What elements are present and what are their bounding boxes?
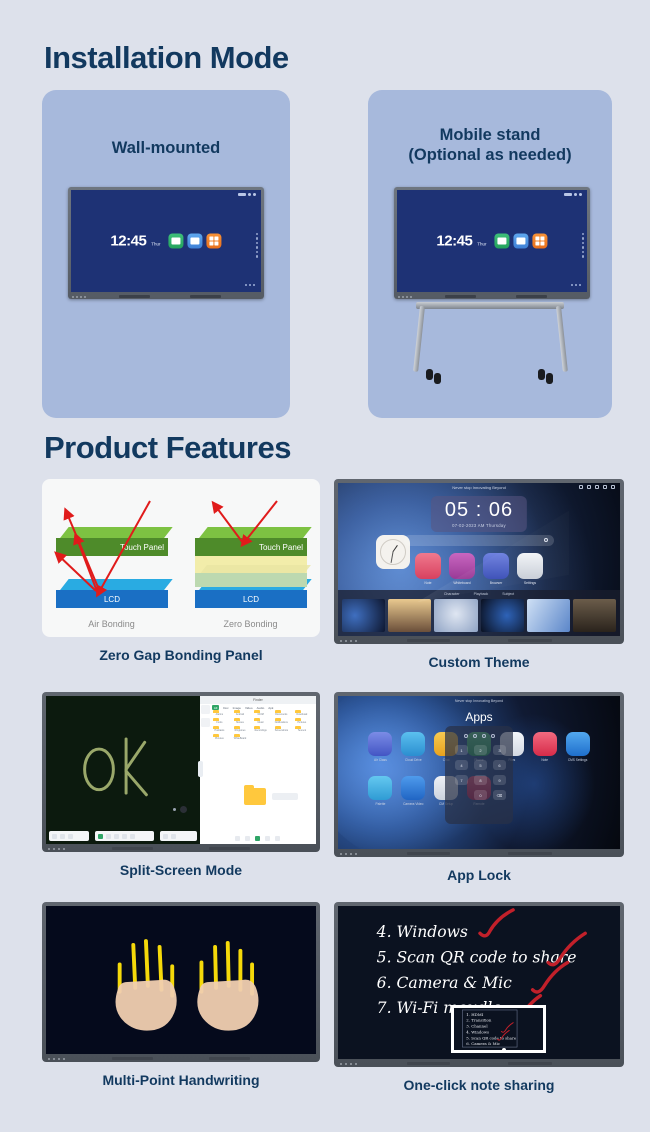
page-title-installation: Installation Mode [44,40,289,76]
theme-top-bar-title: Never stop Innovating Beyond [338,485,620,490]
list-item[interactable]: Alarms [213,712,226,716]
install-card-stand-label: Mobile stand (Optional as needed) [368,125,612,165]
display-mock-app-lock: Never stop Innovating Beyond Apps Air Cl… [334,692,624,857]
sidebar-item-local [201,705,210,714]
file-manager-toolbar[interactable]: All Doc Image Video Audio Apk [212,705,274,710]
all-apps-icon[interactable] [207,234,222,249]
bonding-zero: LCD Touch Panel [181,479,320,637]
key-6[interactable]: 6 [493,760,506,770]
svg-text:3. Channel: 3. Channel [466,1024,488,1029]
speaker-grille-left [407,1062,451,1065]
svg-text:5. Scan QR code to share: 5. Scan QR code to share [466,1035,517,1040]
stand-caster-right [538,368,556,386]
key-5[interactable]: 5 [474,760,487,770]
air-bonding-light-arrows [42,479,181,637]
home-app-row [169,234,222,249]
status-label-icon [564,193,572,196]
list-item[interactable]: Movies [234,720,247,724]
stand-caster-left [426,368,444,386]
filter-chip-5[interactable]: Audio [257,706,265,710]
brand-mark [571,284,581,286]
share-preview-inset[interactable]: 1. HDMI 2. Transition 3. Channel 4. Wind… [451,1005,546,1053]
brand-mark [245,284,255,286]
backspace-icon[interactable]: ⌫ [493,790,506,800]
side-toolbar-icons[interactable] [582,233,585,258]
hand-silhouette-left [116,980,177,1031]
display-mock-handwriting [42,902,320,1062]
home-day: Thur [151,242,160,247]
front-button-row[interactable] [48,1058,65,1060]
list-item[interactable]: Download [295,712,308,716]
filter-chip-6[interactable]: Apk [268,706,273,710]
whiteboard-app-icon[interactable] [169,234,184,249]
list-item[interactable]: Android [234,712,247,716]
side-toolbar-icons[interactable] [256,233,259,258]
svg-text:6. Camera & Mic: 6. Camera & Mic [466,1041,500,1046]
theme-thumbnail-row [338,599,620,632]
gallery-icon [603,485,607,489]
home-clock: 12:45 [110,234,146,249]
wifi-icon [248,193,251,196]
zero-bonding-light-arrows [181,479,320,637]
home-clock: 12:45 [436,234,472,249]
display-mock-custom-theme: Never stop Innovating Beyond 05 : 06 07-… [334,479,624,644]
bell-icon [611,485,615,489]
note-line-3: 6. Camera & Mic [377,974,512,992]
app-tile[interactable]: CMS Settings [566,732,590,762]
split-divider-handle[interactable] [198,761,203,777]
app-tile[interactable]: Camera Video [401,776,425,806]
whiteboard-app-icon[interactable] [495,234,510,249]
filter-chip-2[interactable]: Doc [223,706,228,710]
stand-leg-right [556,306,568,372]
poster-page: Installation Mode Wall-mounted 12:45 Thu… [0,0,650,1132]
home-app-row [495,234,548,249]
feature-caption-handwriting: Multi-Point Handwriting [42,1072,320,1088]
app-tile[interactable]: Note [533,732,557,762]
list-item[interactable]: Ringtones [234,728,247,732]
home-center: 12:45 Thur [110,234,221,249]
file-manager-pane[interactable]: Finder All Doc Image Video Audio Apk [200,696,316,844]
battery-icon [579,193,582,196]
display-mock-stand: 12:45 Thur [394,187,590,299]
front-button-row[interactable] [340,1063,357,1065]
list-item[interactable]: Tencent [295,728,308,732]
front-button-row[interactable] [340,640,357,642]
speaker-grille-right [508,852,552,855]
feature-caption-app-lock: App Lock [334,867,624,883]
bonding-diagram: Touch Panel LCD [42,479,320,637]
folder-name-field [272,793,298,800]
status-label-icon [238,193,246,196]
bonding-air: Touch Panel LCD [42,479,181,637]
key-1[interactable]: 1 [455,745,468,755]
speaker-grille-left [112,1057,154,1060]
list-item[interactable]: Recordings [254,728,267,732]
list-item[interactable]: Pictures [213,736,226,740]
theme-thumbnail[interactable] [434,599,477,632]
install-card-wall-label: Wall-mounted [42,138,290,158]
stand-leg-left [413,306,425,372]
custom-theme-screen: Never stop Innovating Beyond 05 : 06 07-… [338,483,620,636]
key-0[interactable]: 0 [474,790,487,800]
list-item[interactable]: Pictures [295,720,308,724]
status-bar [564,193,582,196]
key-7[interactable]: 7 [455,775,468,785]
list-item[interactable]: Screenshots [275,728,288,732]
install-card-stand-label-line1: Mobile stand [368,125,612,145]
more-icon [579,485,583,489]
feature-zero-gap-bonding: Touch Panel LCD [42,479,320,637]
display-mock-split-screen: Finder All Doc Image Video Audio Apk [42,692,320,852]
app-tile[interactable]: Cloud Drive [401,732,425,762]
whiteboard-handwriting-ok [77,729,162,803]
page-title-apps: Apps [338,710,620,724]
speaker-grille-right [209,847,251,850]
note-line-2: 5. Scan QR code to share [377,949,577,967]
note-sharing-screen[interactable]: 4. Windows 5. Scan QR code to share 6. C… [338,906,620,1059]
mobile-stand-frame [368,296,612,392]
folder-grid: Alarms Android DCIM Documents Download F… [213,712,313,740]
key-4[interactable]: 4 [455,760,468,770]
split-screen-content: Finder All Doc Image Video Audio Apk [46,696,316,844]
key-2[interactable]: 2 [474,745,487,755]
display-mock-wall: 12:45 Thur [68,187,264,299]
file-manager-header: Finder [200,696,316,704]
pin-keypad-overlay[interactable]: 1 2 3 4 5 6 7 8 9 0 ⌫ [445,726,513,824]
speaker-grille-left [407,852,451,855]
list-item[interactable]: Podcasts [213,728,226,732]
all-apps-icon[interactable] [533,234,548,249]
display-screen: 12:45 Thur [397,190,587,292]
page-title-features: Product Features [44,430,291,466]
feature-multi-point-handwriting: Multi-Point Handwriting [42,902,320,1062]
note-icon [415,553,441,579]
display-mock-note-sharing: 4. Windows 5. Scan QR code to share 6. C… [334,902,624,1067]
front-button-row[interactable] [72,296,86,298]
status-bar [238,193,256,196]
zero-bonding-caption: Zero Bonding [181,619,320,629]
app-lock-top-bar-title: Never stop Innovating Beyond [338,699,620,703]
home-center: 12:45 Thur [436,234,547,249]
whiteboard-pane[interactable] [46,696,200,844]
home-day: Thur [477,242,486,247]
keypad-keys[interactable]: 1 2 3 4 5 6 7 8 9 0 ⌫ [455,745,503,800]
key-3[interactable]: 3 [493,745,506,755]
cms-settings-icon [566,732,590,756]
speaker-grille-right [190,295,221,298]
pin-dots [455,734,503,738]
camera-video-icon [401,776,425,800]
app-tile[interactable]: Palette [368,776,392,806]
list-item[interactable]: WhiteBoard [234,736,247,740]
theme-thumbnail[interactable] [388,599,431,632]
svg-text:4. Windows: 4. Windows [466,1029,489,1034]
menu-icon [587,485,591,489]
svg-text:1. HDMI: 1. HDMI [466,1012,483,1017]
list-item[interactable]: Music [254,720,267,724]
tab-subject[interactable]: Subject [502,592,514,596]
folder-icon [244,788,266,805]
filter-chip-4[interactable]: Video [245,706,253,710]
screen-share-app-icon[interactable] [188,234,203,249]
clock-widget[interactable]: 05 : 06 07-02-2023 AM Thursday [431,496,527,532]
filter-chip-3[interactable]: Image [233,706,241,710]
speaker-grille-left [407,639,451,642]
file-manager-bottom-bar[interactable] [200,836,316,841]
theme-thumbnail[interactable] [342,599,385,632]
app-tile[interactable]: Air Class [368,732,392,762]
palette-icon [368,776,392,800]
theme-thumbnail[interactable] [573,599,616,632]
feature-note-sharing: 4. Windows 5. Scan QR code to share 6. C… [334,902,624,1067]
theme-top-bar-icons[interactable] [579,485,615,489]
list-item[interactable]: Documents [275,712,288,716]
file-manager-title: Finder [253,698,263,702]
stand-crossbar [416,302,564,309]
handwriting-strokes [46,906,316,1054]
feature-custom-theme: Never stop Innovating Beyond 05 : 06 07-… [334,479,624,644]
speaker-grille-left [112,847,154,850]
cloud-drive-icon [401,732,425,756]
feature-app-lock: Never stop Innovating Beyond Apps Air Cl… [334,692,624,857]
widget-icon [595,485,599,489]
theme-thumbnail[interactable] [527,599,570,632]
handwriting-screen[interactable] [46,906,316,1054]
clock-widget-date: 07-02-2023 AM Thursday [445,523,513,528]
tab-playback[interactable]: Playback [474,592,489,596]
theme-thumbnail[interactable] [481,599,524,632]
screen-share-app-icon[interactable] [514,234,529,249]
wifi-icon [574,193,577,196]
list-item[interactable]: Fonts [213,720,226,724]
air-class-icon [368,732,392,756]
list-item[interactable]: DCIM [254,712,267,716]
sidebar-item-cloud [201,718,210,727]
feature-split-screen: Finder All Doc Image Video Audio Apk [42,692,320,852]
share-preview-mini-screen: 1. HDMI 2. Transition 3. Channel 4. Wind… [454,1008,543,1050]
speaker-grille-right [508,639,552,642]
front-button-row[interactable] [340,853,357,855]
list-item[interactable]: Notifications [275,720,288,724]
note-line-1: 4. Windows [376,923,468,941]
inset-handle[interactable] [502,1048,506,1052]
key-8[interactable]: 8 [474,775,487,785]
file-manager-sidebar[interactable] [201,705,211,727]
feature-caption-custom-theme: Custom Theme [334,654,624,670]
app-lock-screen: Never stop Innovating Beyond Apps Air Cl… [338,696,620,849]
feature-caption-split-screen: Split-Screen Mode [42,862,320,878]
front-button-row[interactable] [48,848,65,850]
speaker-grille-right [209,1057,251,1060]
battery-icon [253,193,256,196]
feature-caption-bonding: Zero Gap Bonding Panel [42,647,320,663]
mini-note-lines: 1. HDMI 2. Transition 3. Channel 4. Wind… [454,1008,543,1050]
selected-folder-preview[interactable] [244,788,298,805]
clock-widget-time: 05 : 06 [445,500,513,520]
display-screen: 12:45 Thur [71,190,261,292]
speaker-grille-right [508,1062,552,1065]
svg-text:2. Transition: 2. Transition [466,1018,492,1023]
air-bonding-caption: Air Bonding [42,619,181,629]
feature-caption-note-sharing: One-click note sharing [334,1077,624,1093]
speaker-grille-left [119,295,150,298]
dock-app-note[interactable]: Note [415,553,441,585]
note-icon [533,732,557,756]
floating-menu-dots[interactable] [173,806,187,813]
key-9[interactable]: 9 [493,775,506,785]
whiteboard-toolbar[interactable] [49,831,197,841]
hand-silhouette-right [197,980,258,1031]
install-card-stand-label-line2: (Optional as needed) [368,145,612,165]
